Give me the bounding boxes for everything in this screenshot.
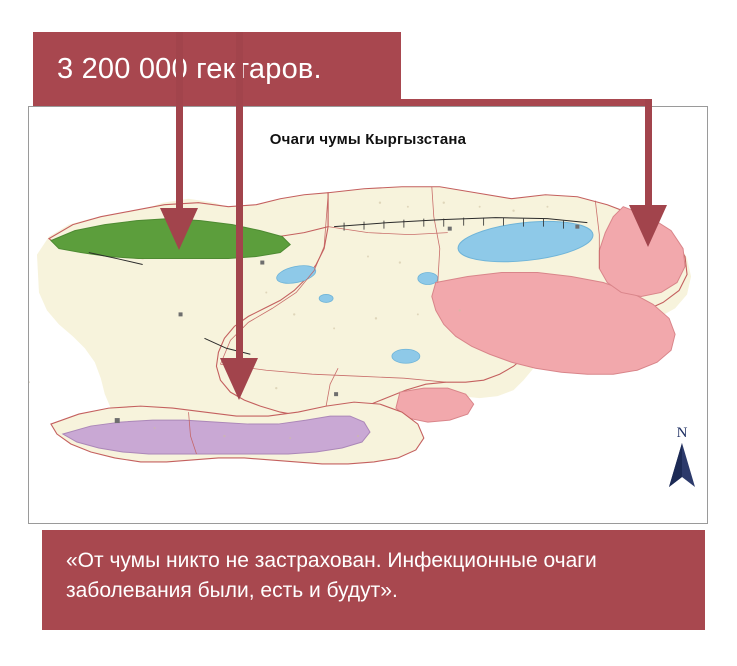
quote-band: «От чумы никто не застрахован. Инфекцион… xyxy=(42,530,705,630)
infographic-root: Очаги чумы Кыргызстана N Метры xyxy=(0,0,737,666)
north-arrow-label: N xyxy=(659,425,705,442)
banner-connector-rail xyxy=(401,99,651,106)
quote-text: «От чумы никто не застрахован. Инфекцион… xyxy=(66,546,681,606)
alai-focus-arrow xyxy=(219,32,259,400)
headline-banner: 3 200 000 гектаров. xyxy=(33,32,401,106)
talas-focus-arrow xyxy=(159,32,199,250)
kyrgyzstan-map xyxy=(29,107,707,524)
map-frame: Очаги чумы Кыргызстана N Метры xyxy=(28,106,708,524)
north-arrow: N xyxy=(659,425,705,495)
tien-shan-focus-arrow xyxy=(628,99,668,247)
